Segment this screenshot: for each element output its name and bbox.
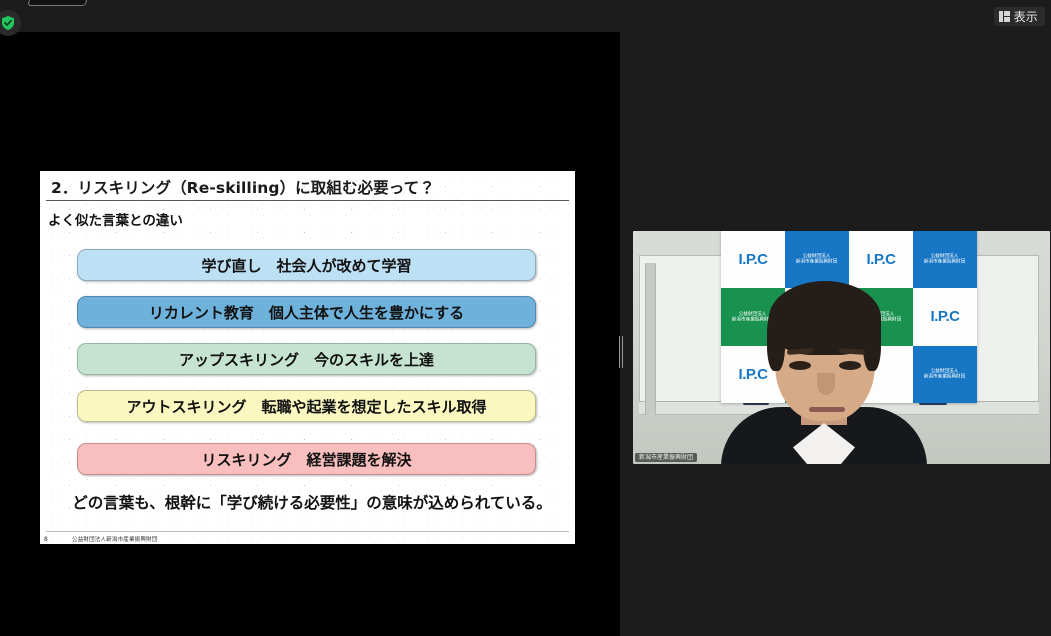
slide-page-number: 8 [44,536,48,543]
slide-row-outskilling: アウトスキリング 転職や起業を想定したスキル取得 [77,390,536,422]
person-mouth [809,407,845,412]
presentation-slide: 2．リスキリング（Re-skilling）に取組む必要って？ よく似た言葉との違… [40,171,575,544]
view-button-label: 表示 [1014,11,1038,23]
slide-row-upskilling: アップスキリング 今のスキルを上達 [77,343,536,375]
layout-grid-icon [999,11,1010,22]
slide-subtitle: よく似た言葉との違い [48,209,183,229]
slide-row-label: リカレント教育 個人主体で人生を豊かにする [149,302,464,323]
person-eye [789,361,811,370]
slide-title: 2．リスキリング（Re-skilling）に取組む必要って？ [51,176,561,198]
view-button[interactable]: 表示 [994,7,1045,26]
slide-title-rule [46,200,569,201]
shared-screen-stage: 2．リスキリング（Re-skilling）に取組む必要って？ よく似た言葉との違… [0,32,620,636]
slide-organization: 公益財団法人新潟市産業振興財団 [72,535,158,543]
slide-row-label: 学び直し 社会人が改めて学習 [201,255,411,276]
slide-row-label: リスキリング 経営課題を解決 [201,449,411,470]
person-nose [817,373,835,395]
resize-handle[interactable] [616,336,625,368]
slide-row-recurrent: リカレント教育 個人主体で人生を豊かにする [77,296,536,328]
slide-row-reskilling: リスキリング 経営課題を解決 [77,443,536,475]
person-hair-side [767,309,785,371]
zoom-meeting-window: 表示 2．リスキリング（Re-skilling）に取組む必要って？ よく似た言葉… [0,0,1051,636]
window-chrome-notch [28,0,91,6]
person-eye [839,361,861,370]
slide-row-label: アップスキリング 今のスキルを上達 [179,349,434,370]
participant-person [633,231,1050,464]
participant-name-label: 新潟市産業振興財団 [635,453,697,462]
slide-footer-rule [46,531,569,532]
person-hair-side [863,309,881,371]
slide-row-manabinaoshi: 学び直し 社会人が改めて学習 [77,249,536,281]
slide-row-label: アウトスキリング 転職や起業を想定したスキル取得 [126,396,486,417]
participant-video-tile[interactable]: I.P.C 公益財団法人 新潟市産業振興財団 I.P.C 公益財団法人 新潟市産… [633,231,1050,464]
slide-conclusion: どの言葉も、根幹に「学び続ける必要性」の意味が込められている。 [56,491,568,513]
meeting-top-bar: 表示 [0,0,1051,32]
